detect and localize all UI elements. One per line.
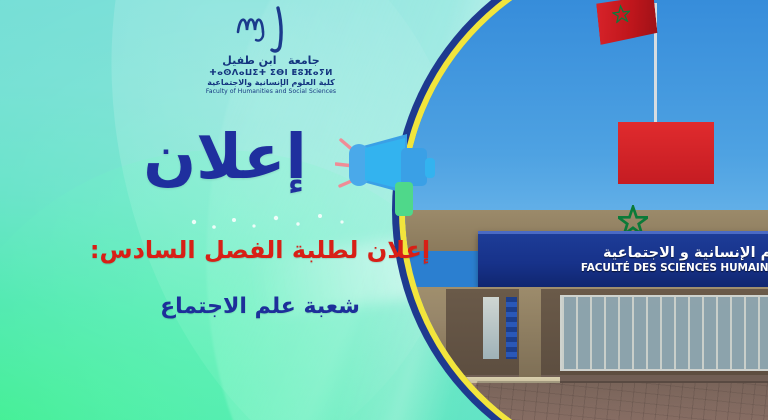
logo-tifinagh-name: ⵜⴰⵙⴷⴰⵡⵉⵜ ⵉⴱⵏ ⵟⵓⴼⴰⵢⵍ [196,68,346,79]
photo-content: كلية العلوم الإنسانية و الاجتماعية FACUL… [405,0,768,420]
page-title: إعلان [110,126,340,188]
building-column [519,289,541,381]
cast-shadow [457,381,768,420]
logo-english-faculty: Faculty of Humanities and Social Science… [196,88,346,96]
logo-calligraphy-icon [228,6,314,54]
flag-star-icon [612,3,632,23]
announcement-poster: كلية العلوم الإنسانية و الاجتماعية FACUL… [0,0,768,420]
sky [405,0,768,241]
announcement-line-2: شعبة علم الاجتماع [40,294,480,319]
blue-tile-strip [506,297,517,359]
moroccan-flag-icon [596,0,658,45]
universite-ibn-tofail-logo: جامعة ابن طفيل ⵜⴰⵙⴷⴰⵡⵉⵜ ⵉⴱⵏ ⵟⵓⴼⴰⵢⵍ كلية … [196,6,346,110]
side-door [483,297,499,359]
building-sign-arabic: كلية العلوم الإنسانية و الاجتماعية [603,246,768,261]
megaphone-body [401,148,427,186]
red-wall-panel [618,122,714,184]
logo-arabic-line-2: ابن طفيل [222,54,276,67]
logo-arabic-name: جامعة ابن طفيل [196,54,346,68]
entrance-glass-doors [560,295,768,371]
building-sign: كلية العلوم الإنسانية و الاجتماعية FACUL… [478,231,768,287]
megaphone-icon [335,124,451,228]
megaphone-tail [425,158,435,178]
logo-arabic-line-1: جامعة [288,54,320,67]
building-sign-french: FACULTÉ DES SCIENCES HUMAINES ET SOCIALE… [581,262,768,274]
megaphone-handle [395,182,413,216]
announcement-line-1: إعلان لطلبة الفصل السادس: [40,236,480,264]
logo-arabic-faculty: كلية العلوم الإنسانية والاجتماعية [196,78,346,88]
